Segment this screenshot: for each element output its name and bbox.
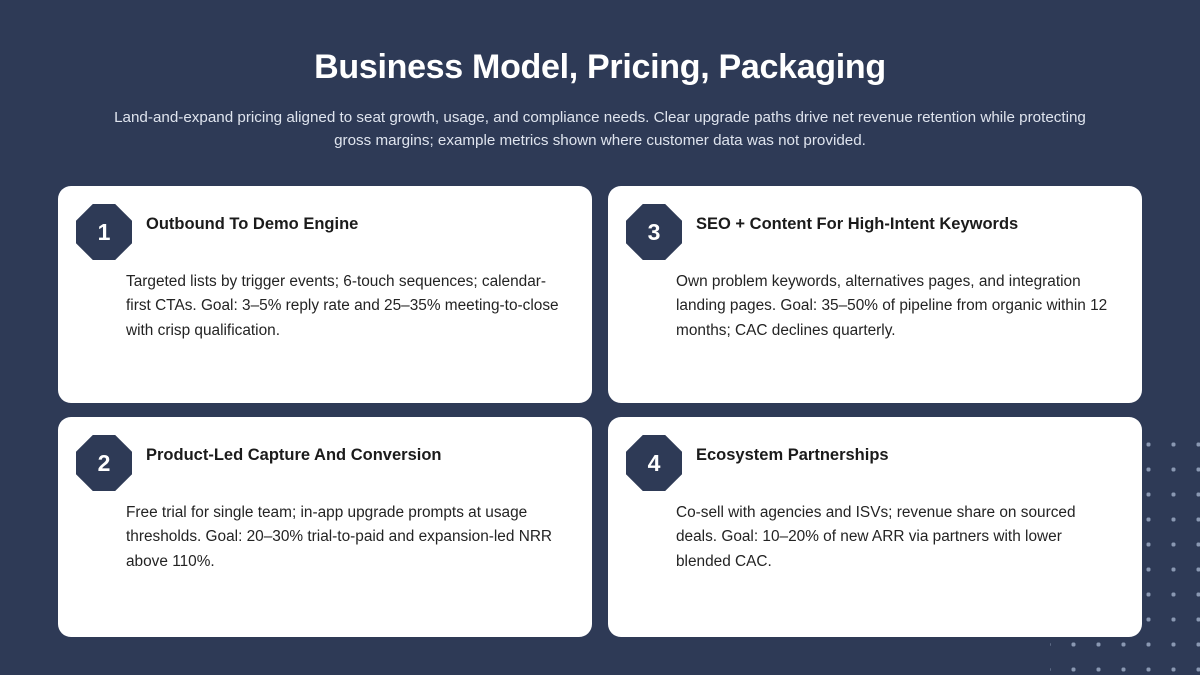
card-header: 2 Product-Led Capture And Conversion [76, 435, 570, 491]
card-header: 3 SEO + Content For High-Intent Keywords [626, 204, 1120, 260]
card-number-badge: 2 [76, 435, 132, 491]
slide-header: Business Model, Pricing, Packaging Land-… [0, 0, 1200, 153]
card-ecosystem-partnerships[interactable]: 4 Ecosystem Partnerships Co-sell with ag… [608, 417, 1142, 637]
card-header: 1 Outbound To Demo Engine [76, 204, 570, 260]
card-header: 4 Ecosystem Partnerships [626, 435, 1120, 491]
card-product-led-capture-and-conversion[interactable]: 2 Product-Led Capture And Conversion Fre… [58, 417, 592, 637]
card-number-badge: 4 [626, 435, 682, 491]
slide: Business Model, Pricing, Packaging Land-… [0, 0, 1200, 675]
page-subtitle: Land-and-expand pricing aligned to seat … [100, 107, 1100, 153]
card-grid: 1 Outbound To Demo Engine Targeted lists… [58, 186, 1142, 637]
card-number-badge: 3 [626, 204, 682, 260]
card-title: Outbound To Demo Engine [146, 204, 570, 235]
card-body-text: Co-sell with agencies and ISVs; revenue … [626, 501, 1120, 574]
card-title: SEO + Content For High-Intent Keywords [696, 204, 1120, 235]
card-outbound-to-demo-engine[interactable]: 1 Outbound To Demo Engine Targeted lists… [58, 186, 592, 403]
card-number-badge: 1 [76, 204, 132, 260]
card-title: Product-Led Capture And Conversion [146, 435, 570, 466]
card-body-text: Own problem keywords, alternatives pages… [626, 270, 1120, 343]
card-seo-content-for-high-intent-keywords[interactable]: 3 SEO + Content For High-Intent Keywords… [608, 186, 1142, 403]
card-title: Ecosystem Partnerships [696, 435, 1120, 466]
card-body-text: Free trial for single team; in-app upgra… [76, 501, 570, 574]
page-title: Business Model, Pricing, Packaging [70, 48, 1130, 87]
card-body-text: Targeted lists by trigger events; 6-touc… [76, 270, 570, 343]
